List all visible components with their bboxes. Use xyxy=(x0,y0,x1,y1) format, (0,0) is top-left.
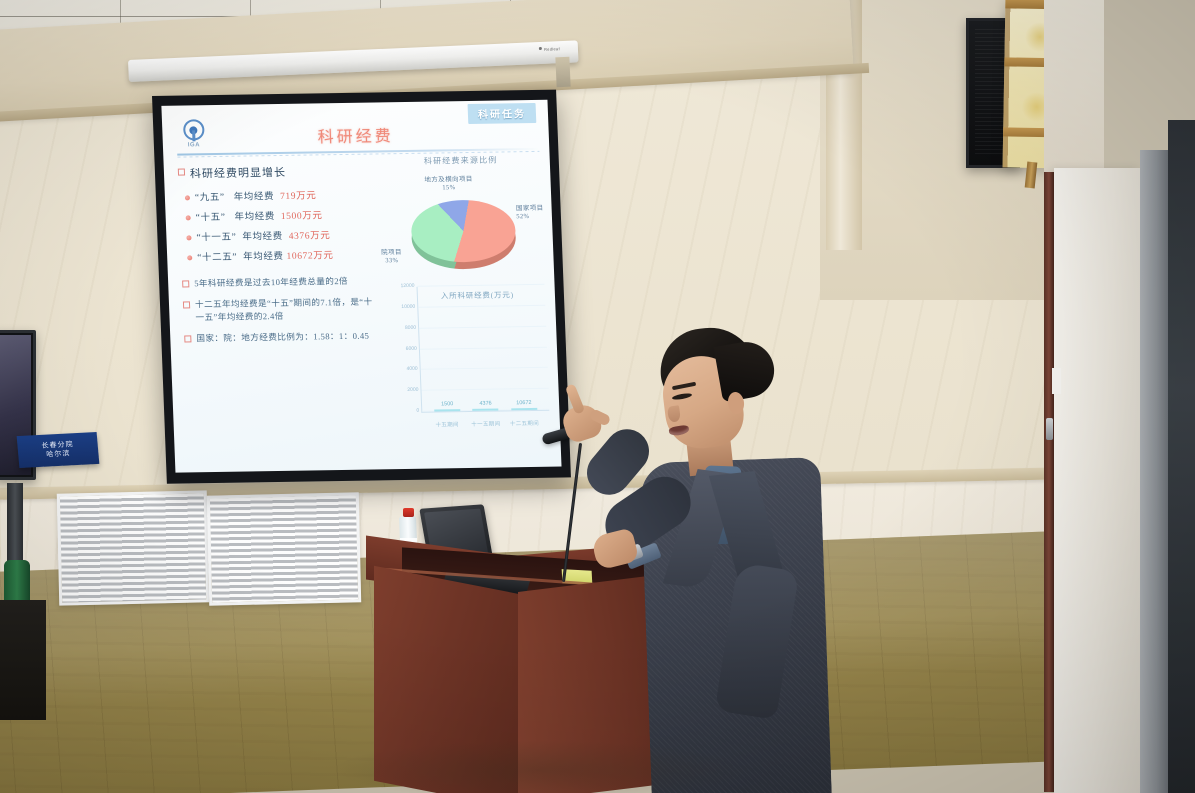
bar-rect xyxy=(473,409,499,411)
slide-right-column: 科研经费来源比例 国家项目 52% 院项目 33% xyxy=(377,154,554,435)
list-item: “九五” 年均经费 719万元 xyxy=(185,187,375,204)
logo-circle-icon xyxy=(182,119,204,140)
pie-label-national: 国家项目 52% xyxy=(516,205,544,222)
square-bullet-icon xyxy=(182,280,189,287)
list-item: 十二五年均经费是“十五”期间的7.1倍，是“十一五”年均经费的2.4倍 xyxy=(183,296,379,324)
slide-left-column: 科研经费明显增长 “九五” 年均经费 719万元 xyxy=(178,163,380,355)
pie-disc xyxy=(410,199,516,263)
bar-x-axis-labels: 十五期间 十一五期间 十二五期间 xyxy=(422,419,550,429)
list-item: “十一五” 年均经费 4376万元 xyxy=(186,226,376,243)
slide-title: 科研经费 xyxy=(317,122,394,147)
wall-right-upper xyxy=(1044,0,1104,176)
bar-chart: 入所科研经费(万元) 0 2000 4000 6000 8000 10000 1… xyxy=(382,283,554,435)
podium-front-left xyxy=(374,566,520,793)
presentation-slide: 科研任务 科研经费 IGA 科研经费明显增长 xyxy=(161,100,561,473)
roller-bracket xyxy=(555,57,570,88)
list-item: “十二五” 年均经费 10672万元 xyxy=(187,246,377,263)
bar-rect xyxy=(511,408,537,410)
doorway-beyond xyxy=(1168,120,1195,793)
presenter-hair-side xyxy=(714,338,779,403)
x-tick: 十一五期间 xyxy=(468,419,504,428)
list-item: “十五” 年均经费 1500万元 xyxy=(185,206,375,223)
presenter xyxy=(568,320,838,793)
door-frame xyxy=(1044,172,1054,792)
x-tick: 十二五期间 xyxy=(506,419,542,428)
slide-section-badge: 科研任务 xyxy=(468,103,537,124)
y-tick: 2000 xyxy=(407,387,418,393)
y-tick: 12000 xyxy=(400,283,414,289)
roller-brand-label: Redleaf xyxy=(539,46,560,52)
bar-value-label: 4376 xyxy=(479,401,491,407)
logo-text: IGA xyxy=(188,142,200,148)
institute-logo: IGA xyxy=(178,119,209,155)
y-tick: 6000 xyxy=(406,345,417,351)
radiator-grille-left-2 xyxy=(207,492,361,605)
bar-item: 1500 xyxy=(434,409,460,411)
dot-bullet-icon xyxy=(186,235,191,240)
dot-bullet-icon xyxy=(187,255,192,260)
pie-chart-title: 科研经费来源比例 xyxy=(377,154,543,168)
bar-rect xyxy=(434,409,460,411)
notes-list: 5年科研经费是过去10年经费总量的2倍 十二五年均经费是“十五”期间的7.1倍，… xyxy=(182,274,380,345)
y-tick: 8000 xyxy=(405,324,416,330)
projector-screen-surface: 科研任务 科研经费 IGA 科研经费明显增长 xyxy=(161,100,561,473)
bar-item: 4376 xyxy=(473,409,499,411)
pie-chart: 国家项目 52% 院项目 33% 地方及横向项目 15% xyxy=(378,169,548,280)
door-handle[interactable] xyxy=(1046,418,1053,440)
dot-bullet-icon xyxy=(185,195,190,200)
door-panel[interactable] xyxy=(1054,168,1140,793)
square-bullet-icon xyxy=(183,302,190,309)
bar-value-label: 10672 xyxy=(516,400,532,406)
door-plate xyxy=(1052,368,1061,394)
y-tick: 10000 xyxy=(401,304,415,310)
projector-screen[interactable]: 科研任务 科研经费 IGA 科研经费明显增长 xyxy=(152,90,571,484)
radiator-grille-left-1 xyxy=(57,490,210,605)
door-gap xyxy=(1140,150,1168,793)
sign-line-2: 哈尔滨 xyxy=(46,449,71,460)
conference-room-scene: 长春分院 哈尔滨 Redleaf 科研任务 科研经费 IGA xyxy=(0,0,1195,793)
square-bullet-icon xyxy=(178,168,185,175)
x-tick: 十五期间 xyxy=(429,420,465,429)
dark-cabinet xyxy=(0,600,46,720)
bar-plot-area: 0 2000 4000 6000 8000 10000 12000 1500 xyxy=(417,285,550,413)
bar-item: 10672 xyxy=(511,408,537,410)
water-bottle-cap xyxy=(403,508,414,517)
bar-series: 1500 4376 10672 xyxy=(418,285,550,412)
blue-signboard: 长春分院 哈尔滨 xyxy=(17,432,100,468)
square-bullet-icon xyxy=(184,336,191,343)
list-item: 国家：院：地方经费比例为：1.58：1：0.45 xyxy=(184,330,380,346)
dot-bullet-icon xyxy=(186,215,191,220)
y-tick: 4000 xyxy=(406,366,417,372)
pie-label-local: 地方及横向项目 15% xyxy=(424,176,473,193)
y-tick: 0 xyxy=(416,408,419,414)
pie-label-academy: 院项目 33% xyxy=(381,249,402,266)
bar-value-label: 1500 xyxy=(441,401,453,407)
funding-list: “九五” 年均经费 719万元 “十五” 年均经费 1500万元 xyxy=(185,187,377,264)
list-item: 5年科研经费是过去10年经费总量的2倍 xyxy=(182,274,378,290)
slide-heading: 科研经费明显增长 xyxy=(178,163,374,182)
